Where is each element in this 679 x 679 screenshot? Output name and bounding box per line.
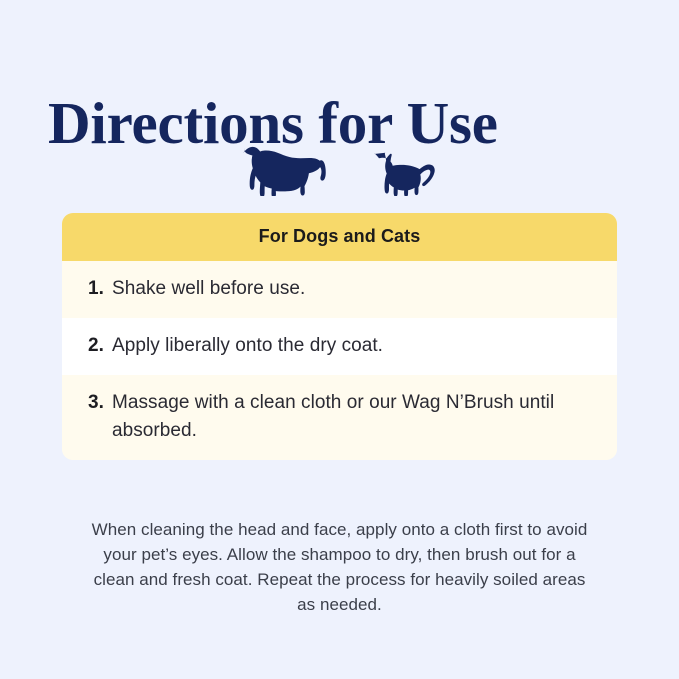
usage-note: When cleaning the head and face, apply o… [88, 517, 591, 617]
directions-card: For Dogs and Cats 1. Shake well before u… [62, 213, 617, 460]
step-text: Apply liberally onto the dry coat. [112, 332, 589, 360]
pet-icons-row [0, 138, 679, 196]
step-row: 2. Apply liberally onto the dry coat. [62, 318, 617, 375]
directions-for-use-page: Directions for Use For Dogs and Cats 1. … [0, 0, 679, 679]
step-row: 3. Massage with a clean cloth or our Wag… [62, 375, 617, 460]
step-row: 1. Shake well before use. [62, 261, 617, 318]
step-text: Massage with a clean cloth or our Wag N’… [112, 389, 589, 445]
card-header-for-dogs-and-cats: For Dogs and Cats [62, 213, 617, 261]
step-number: 1. [88, 275, 112, 303]
step-text: Shake well before use. [112, 275, 589, 303]
cat-silhouette-icon [367, 152, 447, 196]
step-number: 3. [88, 389, 112, 417]
step-number: 2. [88, 332, 112, 360]
dog-silhouette-icon [233, 144, 327, 196]
